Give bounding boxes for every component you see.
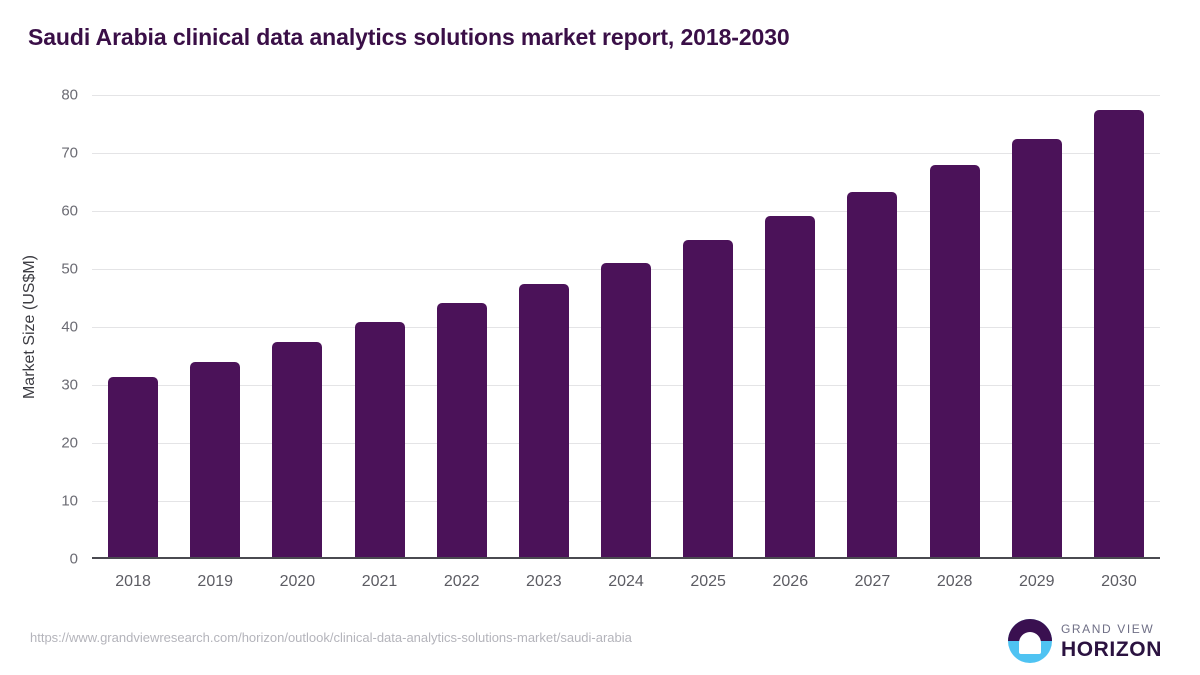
plot-area: 01020304050607080 2018201920202021202220…	[92, 95, 1160, 559]
bar-group[interactable]: 2029	[1012, 95, 1062, 559]
source-url[interactable]: https://www.grandviewresearch.com/horizo…	[30, 630, 632, 645]
bar[interactable]	[765, 216, 815, 559]
bar[interactable]	[601, 263, 651, 559]
x-tick-label: 2022	[437, 573, 487, 591]
logo-text: GRAND VIEW HORIZON	[1061, 623, 1162, 660]
x-axis-line	[92, 557, 1160, 559]
logo-bottom-text: HORIZON	[1061, 639, 1162, 660]
bar[interactable]	[272, 342, 322, 559]
bar[interactable]	[683, 240, 733, 559]
bar-group[interactable]: 2021	[355, 95, 405, 559]
bar[interactable]	[355, 322, 405, 559]
bar-group[interactable]: 2018	[108, 95, 158, 559]
x-tick-label: 2029	[1012, 573, 1062, 591]
y-tick-label: 50	[61, 261, 78, 278]
x-tick-label: 2028	[930, 573, 980, 591]
x-tick-label: 2020	[272, 573, 322, 591]
bar-group[interactable]: 2030	[1094, 95, 1144, 559]
bar-group[interactable]: 2019	[190, 95, 240, 559]
bar-group[interactable]: 2023	[519, 95, 569, 559]
bar-group[interactable]: 2026	[765, 95, 815, 559]
y-tick-label: 40	[61, 319, 78, 336]
page-title: Saudi Arabia clinical data analytics sol…	[28, 24, 790, 51]
horizon-sun-icon	[1008, 619, 1052, 663]
y-tick-label: 30	[61, 377, 78, 394]
bar[interactable]	[847, 192, 897, 559]
x-tick-label: 2021	[355, 573, 405, 591]
bar[interactable]	[190, 362, 240, 559]
y-tick-label: 20	[61, 435, 78, 452]
y-tick-label: 10	[61, 493, 78, 510]
x-tick-label: 2030	[1094, 573, 1144, 591]
y-tick-label: 70	[61, 145, 78, 162]
x-tick-label: 2019	[190, 573, 240, 591]
y-tick-label: 0	[70, 551, 78, 568]
x-tick-label: 2025	[683, 573, 733, 591]
bar-group[interactable]: 2020	[272, 95, 322, 559]
bar[interactable]	[519, 284, 569, 560]
y-tick-label: 80	[61, 87, 78, 104]
bar[interactable]	[1094, 110, 1144, 559]
grand-view-horizon-logo[interactable]: GRAND VIEW HORIZON	[1008, 619, 1162, 663]
bar-group[interactable]: 2028	[930, 95, 980, 559]
y-axis-title: Market Size (US$M)	[18, 95, 42, 559]
chart-page: Saudi Arabia clinical data analytics sol…	[0, 0, 1200, 675]
bar-group[interactable]: 2025	[683, 95, 733, 559]
logo-top-text: GRAND VIEW	[1061, 623, 1162, 635]
bar[interactable]	[108, 377, 158, 559]
bar-series: 2018201920202021202220232024202520262027…	[92, 95, 1160, 559]
x-tick-label: 2026	[765, 573, 815, 591]
bar[interactable]	[437, 303, 487, 559]
bar-group[interactable]: 2024	[601, 95, 651, 559]
bar[interactable]	[930, 165, 980, 559]
bar[interactable]	[1012, 139, 1062, 559]
x-tick-label: 2027	[847, 573, 897, 591]
bar-group[interactable]: 2022	[437, 95, 487, 559]
x-tick-label: 2023	[519, 573, 569, 591]
x-tick-label: 2024	[601, 573, 651, 591]
x-tick-label: 2018	[108, 573, 158, 591]
bar-group[interactable]: 2027	[847, 95, 897, 559]
y-tick-label: 60	[61, 203, 78, 220]
